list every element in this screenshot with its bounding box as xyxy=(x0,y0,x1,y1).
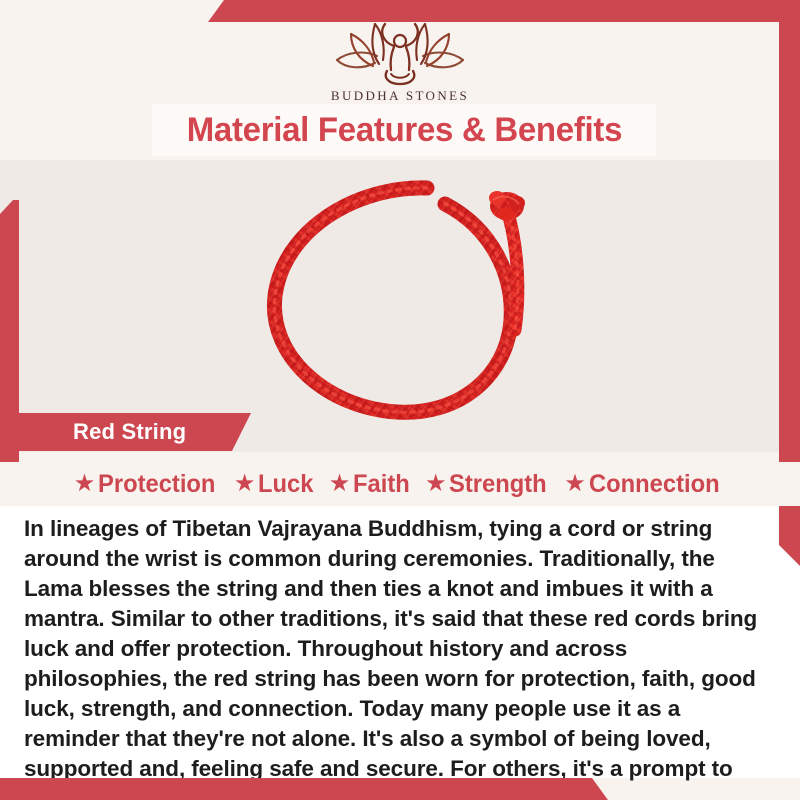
star-icon: ★ xyxy=(329,472,351,496)
benefits-row: ★ Protection ★ Luck ★ Faith ★ Strength ★… xyxy=(0,462,800,506)
lotus-meditation-icon xyxy=(0,16,800,86)
benefit-item-luck: ★ Luck xyxy=(230,470,321,499)
title-banner: Material Features & Benefits xyxy=(152,104,656,156)
benefit-label: Strength xyxy=(449,470,547,499)
benefit-item-connection: ★ Connection xyxy=(560,470,730,499)
star-icon: ★ xyxy=(74,472,96,496)
star-icon: ★ xyxy=(564,472,586,496)
brand-logo: BUDDHA STONES xyxy=(0,16,800,104)
benefit-item-protection: ★ Protection xyxy=(70,470,226,499)
product-photo-panel xyxy=(0,160,800,452)
description-text: In lineages of Tibetan Vajrayana Buddhis… xyxy=(0,506,800,800)
page-title: Material Features & Benefits xyxy=(186,111,621,150)
product-label-ribbon: Red String xyxy=(19,413,251,451)
infographic-card: BUDDHA STONES Material Features & Benefi… xyxy=(0,0,800,800)
benefit-item-strength: ★ Strength xyxy=(421,470,556,499)
description-panel: In lineages of Tibetan Vajrayana Buddhis… xyxy=(0,506,800,778)
star-icon: ★ xyxy=(425,472,447,496)
decoration-left-bar xyxy=(0,200,19,466)
product-label-text: Red String xyxy=(19,419,186,445)
benefit-label: Luck xyxy=(258,470,313,499)
benefit-item-faith: ★ Faith xyxy=(325,470,417,499)
brand-wordmark: BUDDHA STONES xyxy=(0,88,800,104)
benefit-label: Protection xyxy=(98,470,215,499)
benefit-label: Connection xyxy=(589,470,720,499)
benefit-label: Faith xyxy=(353,470,410,499)
star-icon: ★ xyxy=(234,472,256,496)
